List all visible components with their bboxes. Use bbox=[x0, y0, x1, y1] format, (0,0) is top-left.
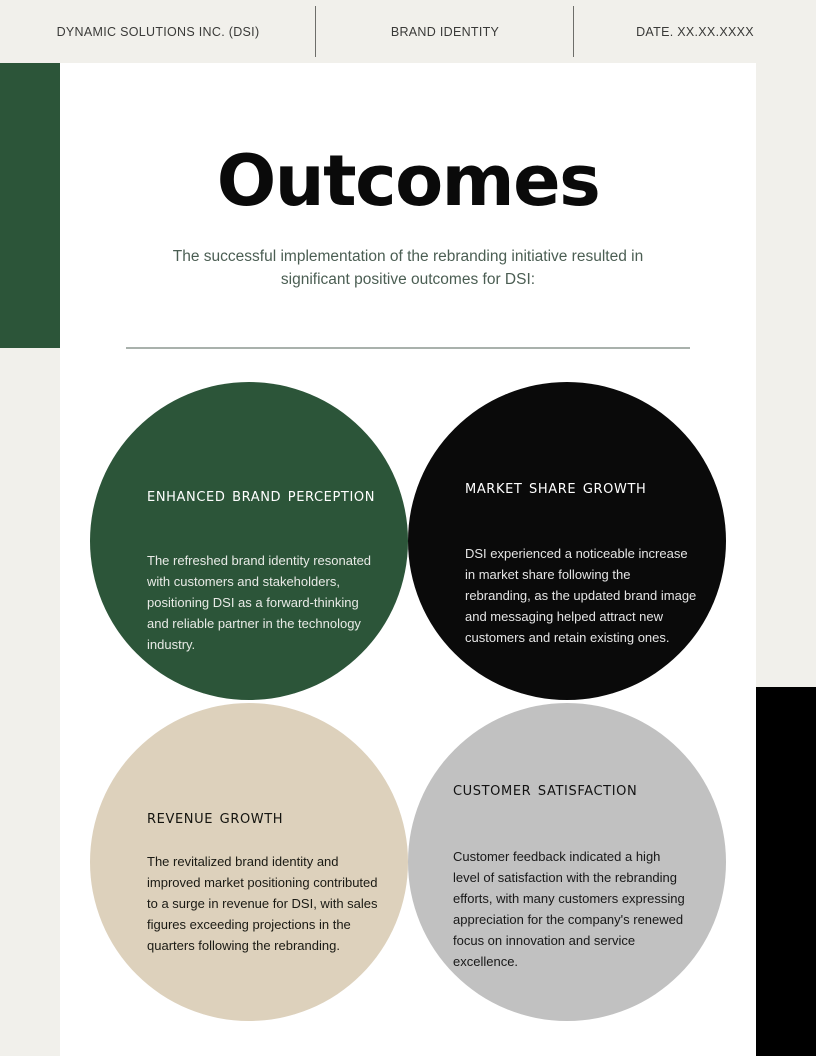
outcome-circle-customer-satisfaction[interactable]: Customer Satisfaction Customer feedback … bbox=[408, 703, 726, 1021]
section-divider bbox=[126, 347, 690, 349]
header-company-cell: DYNAMIC SOLUTIONS INC. (DSI) bbox=[0, 0, 316, 63]
outcome-body: The revitalized brand identity and impro… bbox=[147, 851, 379, 956]
outcome-heading: Revenue Growth bbox=[147, 804, 385, 831]
outcome-body: The refreshed brand identity resonated w… bbox=[147, 550, 379, 655]
outcome-body: DSI experienced a noticeable increase in… bbox=[465, 543, 697, 648]
page-subtitle: The successful implementation of the reb… bbox=[158, 245, 658, 291]
header-date-label: DATE. XX.XX.XXXX bbox=[636, 25, 754, 39]
outcome-circle-market-share-growth[interactable]: Market Share Growth DSI experienced a no… bbox=[408, 382, 726, 700]
slide-content-card: Outcomes The successful implementation o… bbox=[60, 63, 756, 1056]
decorative-black-block-right bbox=[756, 687, 816, 1056]
decorative-green-block-left bbox=[0, 63, 60, 348]
outcome-heading: Enhanced Brand Perception bbox=[147, 482, 385, 509]
outcome-circle-enhanced-brand-perception[interactable]: Enhanced Brand Perception The refreshed … bbox=[90, 382, 408, 700]
page-header: DYNAMIC SOLUTIONS INC. (DSI) BRAND IDENT… bbox=[0, 0, 816, 63]
outcome-heading: Customer Satisfaction bbox=[453, 776, 691, 803]
header-topic-cell: BRAND IDENTITY bbox=[316, 0, 574, 63]
outcome-circle-revenue-growth[interactable]: Revenue Growth The revitalized brand ide… bbox=[90, 703, 408, 1021]
outcome-heading: Market Share Growth bbox=[465, 474, 703, 501]
header-topic-label: BRAND IDENTITY bbox=[391, 25, 499, 39]
outcome-body: Customer feedback indicated a high level… bbox=[453, 846, 685, 972]
header-company-label: DYNAMIC SOLUTIONS INC. (DSI) bbox=[57, 25, 260, 39]
header-date-cell: DATE. XX.XX.XXXX bbox=[574, 0, 816, 63]
page-title: Outcomes bbox=[60, 146, 756, 216]
